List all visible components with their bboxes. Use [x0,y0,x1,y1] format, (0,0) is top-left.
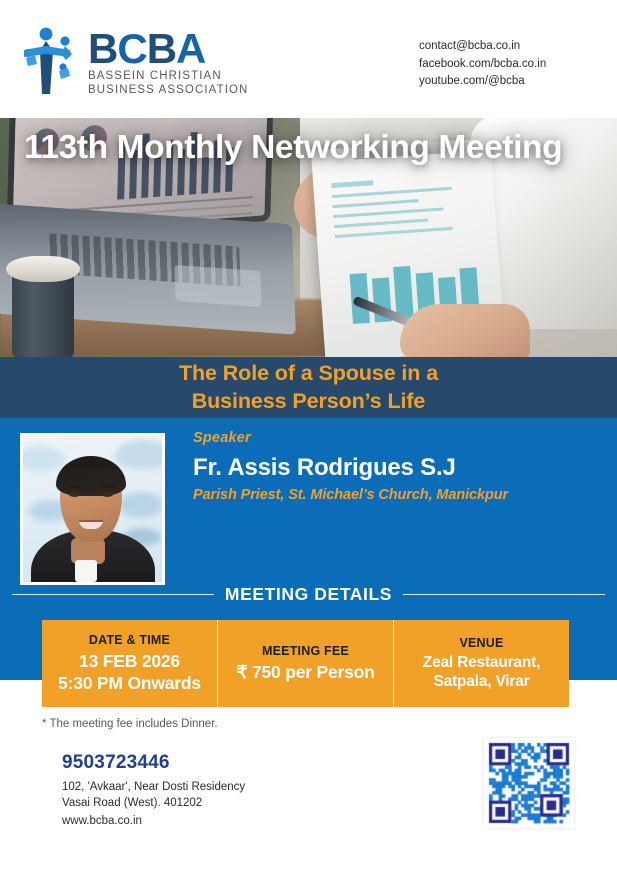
meeting-title: 113th Monthly Networking Meeting [24,129,562,167]
logo-subtitle-line1: BASSEIN CHRISTIAN [88,69,248,84]
detail-venue-line1: Zeal Restaurant, [423,654,540,673]
detail-label-venue: VENUE [459,636,503,650]
speaker-kicker: Speaker [193,430,508,446]
address-line-2: Vasai Road (West). 401202 [62,795,245,811]
detail-column-venue: VENUE Zeal Restaurant, Satpala, Virar [393,620,569,707]
divider-left [12,594,214,596]
qr-code[interactable] [484,738,574,828]
fee-note: * The meeting fee includes Dinner. [42,718,218,730]
detail-column-date-time: DATE & TIME 13 FEB 2026 5:30 PM Onwards [42,620,217,707]
topic-line-2: Business Person’s Life [192,388,426,416]
detail-column-fee: MEETING FEE ₹ 750 per Person [217,620,393,707]
detail-date: 13 FEB 2026 [79,651,180,672]
detail-fee: ₹ 750 per Person [236,662,374,683]
speaker-info: Speaker Fr. Assis Rodrigues S.J Parish P… [193,430,508,503]
hero-banner: 113th Monthly Networking Meeting [0,118,617,357]
coffee-cup [12,273,74,357]
lower-hand [400,304,530,357]
bcba-logo: BCBA BASSEIN CHRISTIAN BUSINESS ASSOCIAT… [18,24,248,98]
speaker-photo [23,436,162,582]
postal-address: 102, 'Avkaar', Near Dosti Residency Vasa… [62,779,245,812]
poster-footer: * The meeting fee includes Dinner. 95037… [0,707,617,872]
laptop-trackpad [174,265,261,307]
contact-email[interactable]: contact@bcba.co.in [419,38,546,56]
coffee-cup-lid [6,256,80,282]
clerical-collar [75,560,97,582]
contact-list: contact@bcba.co.in facebook.com/bcba.co.… [419,38,546,91]
detail-venue-line2: Satpala, Virar [434,673,530,692]
event-poster: BCBA BASSEIN CHRISTIAN BUSINESS ASSOCIAT… [0,0,617,872]
divider-right [403,594,605,596]
meeting-details-box: DATE & TIME 13 FEB 2026 5:30 PM Onwards … [42,620,569,707]
detail-time: 5:30 PM Onwards [58,673,201,694]
topic-band: The Role of a Spouse in a Business Perso… [0,357,617,418]
speaker-role: Parish Priest, St. Michael’s Church, Man… [193,487,508,503]
meeting-details-heading: MEETING DETAILS [0,584,617,605]
logo-subtitle-line2: BUSINESS ASSOCIATION [88,83,248,98]
contact-phone[interactable]: 9503723446 [62,752,170,774]
detail-label-date-time: DATE & TIME [89,633,170,647]
bcba-people-logo-icon [18,24,84,96]
topic-line-1: The Role of a Spouse in a [179,360,438,388]
logo-wordmark: BCBA BASSEIN CHRISTIAN BUSINESS ASSOCIAT… [88,24,248,98]
address-line-1: 102, 'Avkaar', Near Dosti Residency [62,779,245,795]
contact-youtube[interactable]: youtube.com/@bcba [419,73,546,91]
speaker-photo-frame [20,433,165,585]
meeting-details-label: MEETING DETAILS [214,584,403,605]
poster-header: BCBA BASSEIN CHRISTIAN BUSINESS ASSOCIAT… [0,0,617,118]
speaker-name: Fr. Assis Rodrigues S.J [193,454,508,482]
contact-facebook[interactable]: facebook.com/bcba.co.in [419,56,546,74]
detail-label-fee: MEETING FEE [262,644,349,658]
speaker-hair [56,456,126,496]
logo-acronym: BCBA [88,30,248,69]
website-link[interactable]: www.bcba.co.in [62,815,142,827]
